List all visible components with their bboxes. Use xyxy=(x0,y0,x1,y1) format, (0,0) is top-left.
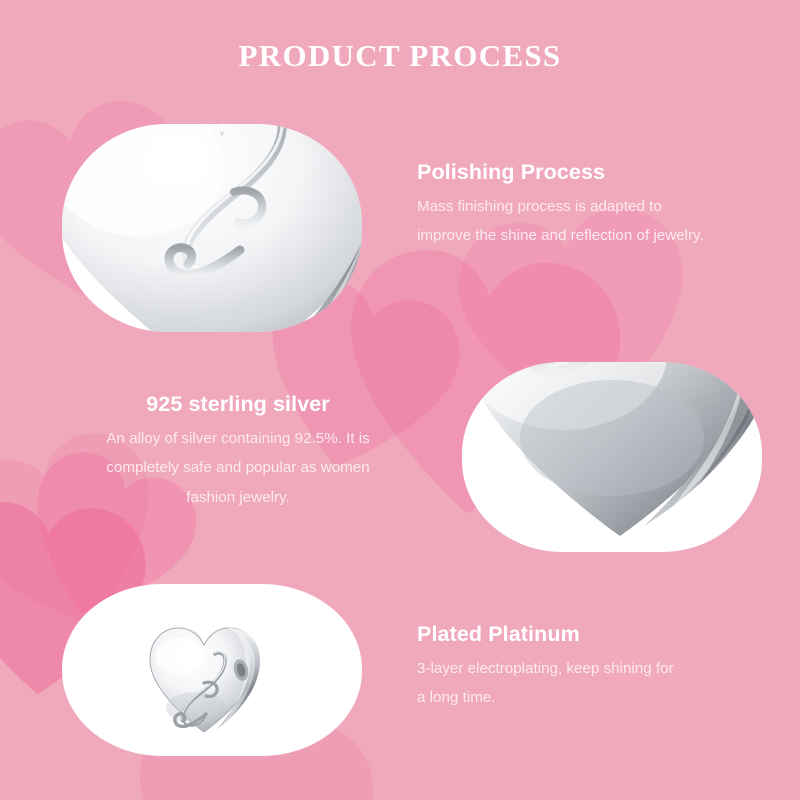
section-heading-polishing: Polishing Process xyxy=(417,160,762,185)
silver-heart-charm-tip-icon xyxy=(462,362,762,552)
section-polishing-text: Polishing Process Mass finishing process… xyxy=(417,160,762,251)
section-body-plated-platinum: 3-layer electroplating, keep shining for… xyxy=(417,654,762,713)
product-image-sterling-silver xyxy=(462,362,762,552)
section-body-sterling-silver: An alloy of silver containing 92.5%. It … xyxy=(58,424,418,513)
body-line: improve the shine and reflection of jewe… xyxy=(417,221,762,251)
page-title: PRODUCT PROCESS xyxy=(0,38,800,74)
product-process-infographic: PRODUCT PROCESS xyxy=(0,0,800,800)
section-heading-sterling-silver: 925 sterling silver xyxy=(58,392,418,417)
body-line: An alloy of silver containing 92.5%. It … xyxy=(58,424,418,454)
body-line: fashion jewelry. xyxy=(58,483,418,513)
body-line: Mass finishing process is adapted to xyxy=(417,192,762,222)
product-image-polishing xyxy=(62,124,362,332)
silver-heart-charm-bead-icon xyxy=(142,620,272,738)
body-line: a long time. xyxy=(417,683,762,713)
product-photo-inner xyxy=(62,584,362,756)
section-heading-plated-platinum: Plated Platinum xyxy=(417,622,762,647)
product-image-plated-platinum xyxy=(62,584,362,756)
product-photo-inner xyxy=(462,362,762,552)
body-line: 3-layer electroplating, keep shining for xyxy=(417,654,762,684)
silver-heart-charm-macro-icon xyxy=(62,124,362,332)
section-plated-platinum-text: Plated Platinum 3-layer electroplating, … xyxy=(417,622,762,713)
section-sterling-silver-text: 925 sterling silver An alloy of silver c… xyxy=(58,392,418,513)
body-line: completely safe and popular as women xyxy=(58,453,418,483)
product-photo-inner xyxy=(62,124,362,332)
section-body-polishing: Mass finishing process is adapted to imp… xyxy=(417,192,762,251)
